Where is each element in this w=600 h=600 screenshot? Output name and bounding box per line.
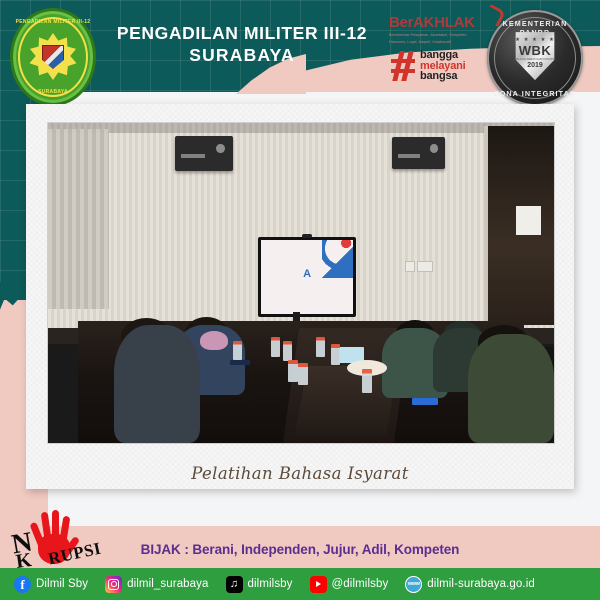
- no-korupsi-graphic: N K RUPSI: [4, 500, 124, 570]
- social-label-youtube: @dilmilsby: [332, 578, 389, 590]
- photo-water-bottle: [271, 337, 280, 356]
- photo-wall-switch-2: [417, 261, 432, 273]
- photo-tv-slide-letter: A: [261, 268, 353, 280]
- wbk-shield-sublabel: WILAYAH BEBAS DARI KORUPSI: [515, 58, 555, 61]
- photo-wall-switch-1: [405, 261, 415, 273]
- berakhlak-main-text: AKHLAK: [413, 14, 475, 31]
- event-photo: A: [47, 122, 555, 444]
- poster-root: PENGADILAN MILITER III-12 SURABAYA PENGA…: [0, 0, 600, 600]
- social-item-facebook[interactable]: f Dilmil Sby: [14, 576, 88, 593]
- wbk-year: 2019: [527, 62, 543, 69]
- photo-water-bottle: [316, 337, 325, 356]
- photo-person-5: [468, 334, 554, 443]
- photo-caption: Pelatihan Bahasa Isyarat: [26, 464, 574, 483]
- photo-phone-left: [230, 360, 250, 365]
- berakhlak-tagline-1: Berorientasi Pelayanan, Akuntabel, Kompe…: [389, 33, 494, 38]
- photo-ceiling-shadow: [48, 123, 554, 133]
- photo-water-bottle: [298, 363, 308, 385]
- social-label-website: dilmil-surabaya.go.id: [427, 578, 535, 590]
- social-item-website[interactable]: www dilmil-surabaya.go.id: [405, 576, 535, 593]
- title-line-1: PENGADILAN MILITER III-12: [92, 22, 392, 44]
- photo-water-bottle: [283, 341, 292, 362]
- berakhlak-prefix: Ber: [389, 14, 413, 31]
- bangga-line-1: bangga: [420, 50, 465, 61]
- photo-card: A: [26, 104, 574, 489]
- title-line-2: SURABAYA: [92, 44, 392, 66]
- bangga-melayani-bangsa-logo: bangga melayani bangsa: [391, 50, 465, 82]
- photo-tv-monitor: A: [258, 237, 356, 318]
- bijak-tagline: BIJAK : Berani, Independen, Jujur, Adil,…: [0, 542, 600, 557]
- seal-text-bottom: SURABAYA: [10, 89, 96, 95]
- photo-flower-vase: [200, 331, 228, 350]
- social-label-tiktok: dilmilsby: [248, 578, 293, 590]
- photo-person-1: [114, 325, 200, 443]
- bangga-line-3: bangsa: [420, 71, 465, 82]
- social-item-youtube[interactable]: @dilmilsby: [310, 576, 389, 593]
- bangga-text-block: bangga melayani bangsa: [420, 50, 465, 82]
- wbk-zona-integritas-badge: KEMENTERIAN PANRB ★ ★ ★ ★ ★ WBK WILAYAH …: [487, 10, 583, 106]
- photo-water-bottle: [362, 369, 372, 393]
- berakhlak-logo: BerAKHLAK Berorientasi Pelayanan, Akunta…: [389, 14, 494, 45]
- social-label-instagram: dilmil_surabaya: [127, 578, 208, 590]
- photo-water-bottle: [288, 360, 298, 382]
- berakhlak-wordmark: BerAKHLAK: [389, 14, 494, 31]
- tiktok-icon[interactable]: ♫: [226, 576, 243, 593]
- social-label-facebook: Dilmil Sby: [36, 578, 88, 590]
- hashtag-icon: [391, 51, 415, 81]
- photo-speaker-right: [392, 137, 445, 169]
- wbk-arc-bottom-text: ZONA INTEGRITAS: [487, 89, 583, 98]
- berakhlak-tagline-2: Harmonis, Loyal, Adaptif, Kolaboratif: [389, 40, 494, 45]
- page-title: PENGADILAN MILITER III-12 SURABAYA: [92, 22, 392, 66]
- youtube-icon[interactable]: [310, 576, 327, 593]
- facebook-icon[interactable]: f: [14, 576, 31, 593]
- photo-water-bottle: [233, 341, 242, 360]
- photo-phone-right: [412, 398, 437, 404]
- photo-water-bottle: [331, 344, 340, 365]
- photo-tv-camera: [302, 234, 312, 238]
- photo-tv-screen: A: [261, 240, 353, 315]
- photo-door-notice: [516, 206, 541, 235]
- wbk-shield-label: WBK: [519, 44, 552, 57]
- photo-curtain: [48, 129, 109, 308]
- social-item-tiktok[interactable]: ♫ dilmilsby: [226, 576, 293, 593]
- website-icon[interactable]: www: [405, 576, 422, 593]
- photo-speaker-left: [175, 136, 233, 171]
- social-item-instagram[interactable]: dilmil_surabaya: [105, 576, 208, 593]
- social-media-bar: f Dilmil Sby dilmil_surabaya ♫ dilmilsby…: [0, 568, 600, 600]
- instagram-icon[interactable]: [105, 576, 122, 593]
- photo-chair-left-2: [48, 373, 124, 443]
- court-seal-logo: PENGADILAN MILITER III-12 SURABAYA: [10, 8, 96, 106]
- seal-text-top: PENGADILAN MILITER III-12: [10, 19, 96, 25]
